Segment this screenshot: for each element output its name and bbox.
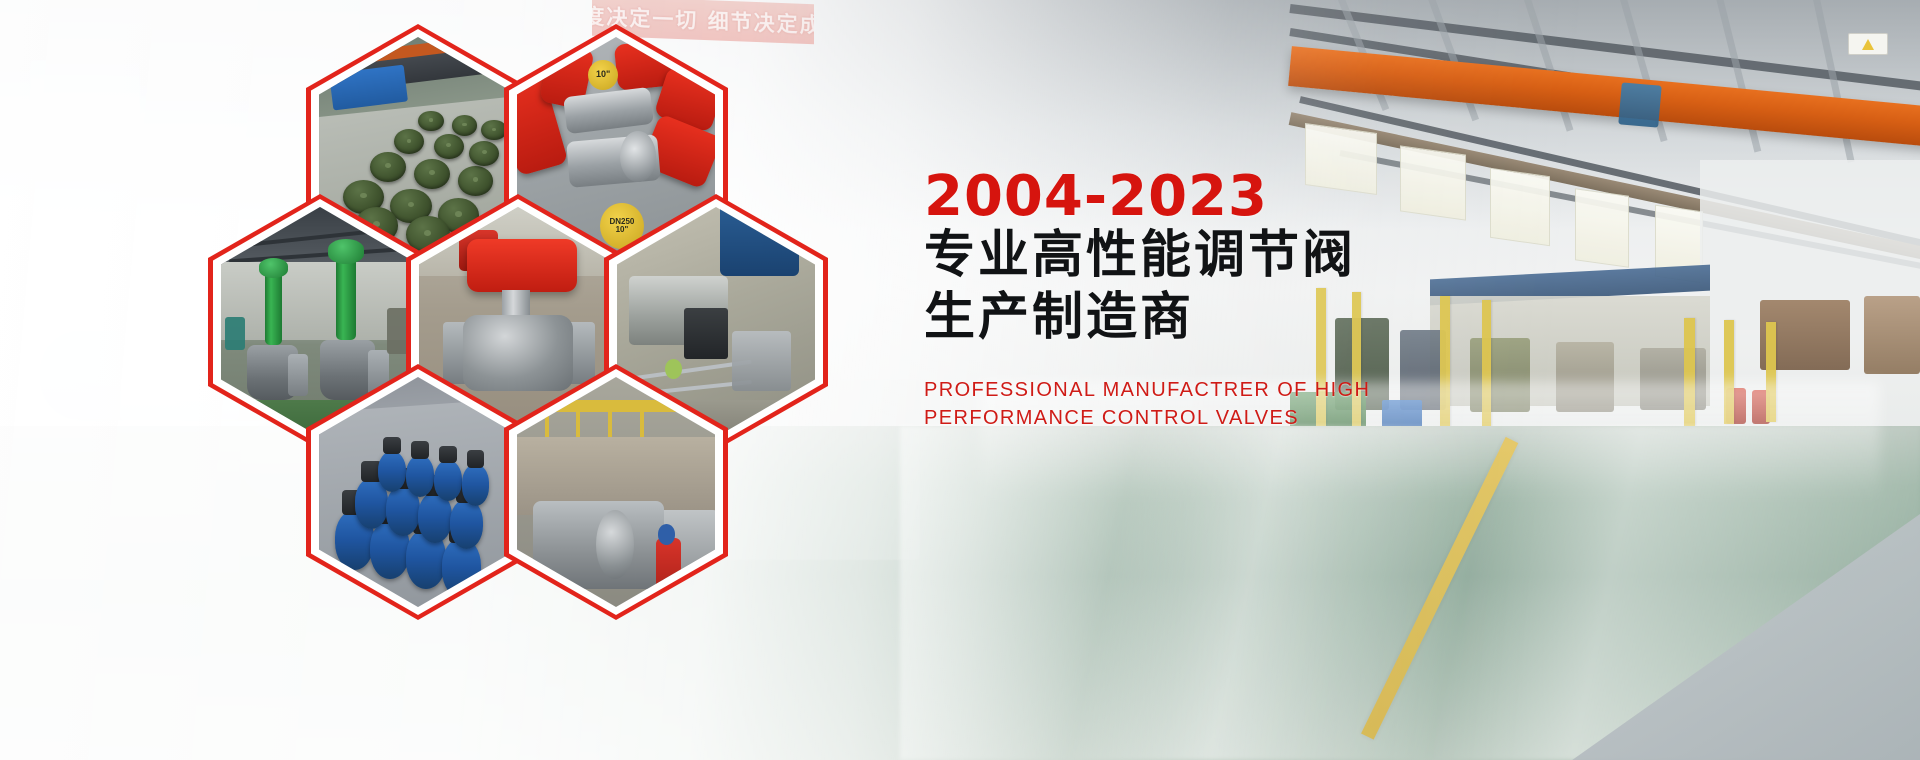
subtitle-en-block: PROFESSIONAL MANUFACTRER OF HIGH PERFORM… [924,376,1484,433]
subtitle-en-line-2: PERFORMANCE CONTROL VALVES [924,404,1484,432]
headline-copy-block: 2004-2023 专业高性能调节阀 生产制造商 PROFESSIONAL MA… [924,168,1484,432]
headline-cn-line-1: 专业高性能调节阀 [924,225,1484,287]
hexagon-photo-cluster: 10" DN25010" [196,0,836,760]
hero-banner: 态度决定一切 细节决定成败 [0,0,1920,760]
years-range: 2004-2023 [924,168,1484,225]
subtitle-en-line-1: PROFESSIONAL MANUFACTRER OF HIGH [924,376,1484,404]
headline-cn-line-2: 生产制造商 [924,287,1484,349]
